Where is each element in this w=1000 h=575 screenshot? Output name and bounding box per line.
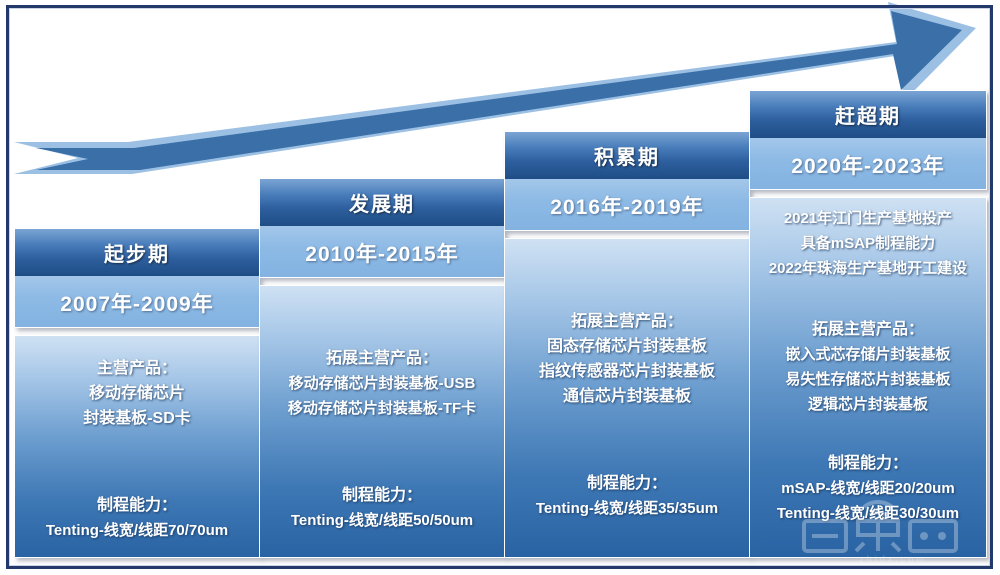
text-line: 2021年江门生产基地投产 [750,206,986,231]
stage-header-4: 赶超期 2020年-2023年 [749,90,987,190]
text-line: 固态存储芯片封装基板 [505,334,749,359]
text-line: 制程能力： [260,483,504,508]
stage-1-group-products: 主营产品： 移动存储芯片 封装基板-SD卡 [15,356,259,431]
text-line: 移动存储芯片封装基板-TF卡 [260,396,504,421]
stage-body-2: 拓展主营产品： 移动存储芯片封装基板-USB 移动存储芯片封装基板-TF卡 制程… [259,285,505,558]
text-line: 拓展主营产品： [505,309,749,334]
text-line: 主营产品： [15,356,259,381]
stage-body-1: 主营产品： 移动存储芯片 封装基板-SD卡 制程能力： Tenting-线宽/线… [14,335,260,558]
stage-body-3: 拓展主营产品： 固态存储芯片封装基板 指纹传感器芯片封装基板 通信芯片封装基板 … [504,238,750,558]
stage-column-3[interactable]: 积累期 2016年-2019年 拓展主营产品： 固态存储芯片封装基板 指纹传感器… [504,131,750,558]
text-line: 移动存储芯片 [15,381,259,406]
stage-date-2: 2010年-2015年 [260,226,504,278]
stage-body-4: 2021年江门生产基地投产 具备mSAP制程能力 2022年珠海生产基地开工建设… [749,197,987,558]
stage-date-3: 2016年-2019年 [505,179,749,231]
text-line: 逻辑芯片封装基板 [750,392,986,417]
text-line: 易失性存储芯片封装基板 [750,367,986,392]
stage-date-1: 2007年-2009年 [15,276,259,328]
text-line: 指纹传感器芯片封装基板 [505,359,749,384]
stage-1-group-process: 制程能力： Tenting-线宽/线距70/70um [15,493,259,543]
text-line: 2022年珠海生产基地开工建设 [750,256,986,281]
text-line: 封装基板-SD卡 [15,406,259,431]
text-line: 具备mSAP制程能力 [750,231,986,256]
text-line: 制程能力： [505,471,749,496]
text-line: 拓展主营产品： [260,346,504,371]
stage-header-3: 积累期 2016年-2019年 [504,131,750,231]
stage-title-1: 起步期 [15,229,259,276]
stage-4-group-products: 拓展主营产品： 嵌入式芯存储片封装基板 易失性存储芯片封装基板 逻辑芯片封装基板 [750,317,986,417]
text-line: 嵌入式芯存储片封装基板 [750,342,986,367]
stage-title-3: 积累期 [505,132,749,179]
stage-title-4: 赶超期 [750,91,986,138]
stage-column-4[interactable]: 赶超期 2020年-2023年 2021年江门生产基地投产 具备mSAP制程能力… [749,90,987,558]
text-line: 制程能力： [15,493,259,518]
stage-header-2: 发展期 2010年-2015年 [259,178,505,278]
text-line: Tenting-线宽/线距70/70um [15,518,259,543]
stage-3-group-products: 拓展主营产品： 固态存储芯片封装基板 指纹传感器芯片封装基板 通信芯片封装基板 [505,309,749,409]
text-line: Tenting-线宽/线距30/30um [750,501,986,526]
stage-date-4: 2020年-2023年 [750,138,986,190]
stage-2-group-products: 拓展主营产品： 移动存储芯片封装基板-USB 移动存储芯片封装基板-TF卡 [260,346,504,421]
text-line: 制程能力： [750,451,986,476]
text-line: Tenting-线宽/线距35/35um [505,496,749,521]
stage-column-1[interactable]: 起步期 2007年-2009年 主营产品： 移动存储芯片 封装基板-SD卡 制程… [14,228,260,558]
stage-header-1: 起步期 2007年-2009年 [14,228,260,328]
stage-3-group-process: 制程能力： Tenting-线宽/线距35/35um [505,471,749,521]
text-line: mSAP-线宽/线距20/20um [750,476,986,501]
stage-4-group-process: 制程能力： mSAP-线宽/线距20/20um Tenting-线宽/线距30/… [750,451,986,526]
stage-2-group-process: 制程能力： Tenting-线宽/线距50/50um [260,483,504,533]
stage-4-group-milestones: 2021年江门生产基地投产 具备mSAP制程能力 2022年珠海生产基地开工建设 [750,206,986,281]
stage-column-2[interactable]: 发展期 2010年-2015年 拓展主营产品： 移动存储芯片封装基板-USB 移… [259,178,505,558]
stage-title-2: 发展期 [260,179,504,226]
text-line: Tenting-线宽/线距50/50um [260,508,504,533]
text-line: 移动存储芯片封装基板-USB [260,371,504,396]
text-line: 通信芯片封装基板 [505,384,749,409]
roadmap-figure: 起步期 2007年-2009年 主营产品： 移动存储芯片 封装基板-SD卡 制程… [0,0,1000,575]
text-line: 拓展主营产品： [750,317,986,342]
